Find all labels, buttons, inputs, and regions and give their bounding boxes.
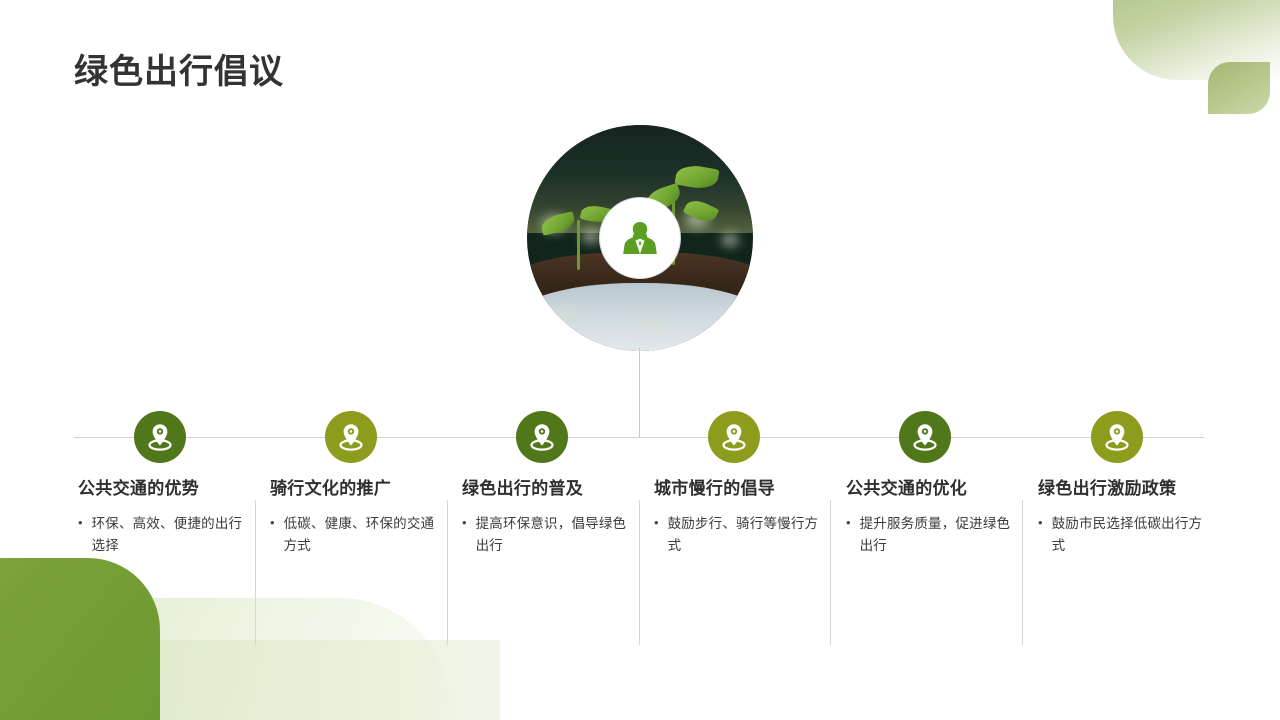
map-pin-icon [525,420,559,454]
timeline-item-3: 绿色出行的普及 • 提高环保意识，倡导绿色出行 [462,478,630,557]
map-pin-icon [1100,420,1134,454]
column-divider-1 [255,500,256,645]
timeline-pin-6[interactable] [1091,411,1143,463]
timeline-item-body: • 环保、高效、便捷的出行选择 [78,513,246,557]
bullet-icon: • [654,513,659,533]
map-pin-icon [908,420,942,454]
hero-connector-line [639,348,640,437]
timeline-item-text: 鼓励步行、骑行等慢行方式 [668,513,822,557]
timeline-item-body: • 低碳、健康、环保的交通方式 [270,513,438,557]
timeline-item-heading: 绿色出行激励政策 [1038,478,1206,500]
map-pin-icon [717,420,751,454]
bullet-icon: • [1038,513,1043,533]
timeline-item-4: 城市慢行的倡导 • 鼓励步行、骑行等慢行方式 [654,478,822,557]
timeline-item-heading: 公共交通的优化 [846,478,1014,500]
bullet-icon: • [846,513,851,533]
timeline-item-5: 公共交通的优化 • 提升服务质量，促进绿色出行 [846,478,1014,557]
timeline-pin-3[interactable] [516,411,568,463]
map-pin-icon [143,420,177,454]
timeline-pin-4[interactable] [708,411,760,463]
timeline-item-body: • 鼓励市民选择低碳出行方式 [1038,513,1206,557]
timeline-axis [74,437,1204,438]
decor-bottom-left-green-shape [0,558,160,720]
column-divider-4 [830,500,831,645]
timeline-item-text: 低碳、健康、环保的交通方式 [284,513,438,557]
timeline-item-body: • 提升服务质量，促进绿色出行 [846,513,1014,557]
bullet-icon: • [270,513,275,533]
slide-canvas: 绿色出行倡议 [0,0,1280,720]
column-divider-5 [1022,500,1023,645]
map-pin-icon [334,420,368,454]
timeline-item-heading: 绿色出行的普及 [462,478,630,500]
timeline-item-heading: 公共交通的优势 [78,478,246,500]
timeline-item-2: 骑行文化的推广 • 低碳、健康、环保的交通方式 [270,478,438,557]
bullet-icon: • [78,513,83,533]
timeline-item-body: • 鼓励步行、骑行等慢行方式 [654,513,822,557]
timeline-item-text: 提升服务质量，促进绿色出行 [860,513,1014,557]
timeline-item-heading: 骑行文化的推广 [270,478,438,500]
businessperson-icon [618,216,662,260]
timeline-pin-5[interactable] [899,411,951,463]
decor-top-right-leaf-small [1208,62,1270,114]
timeline-item-body: • 提高环保意识，倡导绿色出行 [462,513,630,557]
timeline-item-text: 提高环保意识，倡导绿色出行 [476,513,630,557]
timeline-pin-2[interactable] [325,411,377,463]
hero-image-group [527,125,753,351]
column-divider-2 [447,500,448,645]
timeline-item-text: 环保、高效、便捷的出行选择 [92,513,246,557]
timeline-item-heading: 城市慢行的倡导 [654,478,822,500]
page-title: 绿色出行倡议 [74,52,284,93]
column-divider-3 [639,500,640,645]
bullet-icon: • [462,513,467,533]
hero-badge [600,198,680,278]
timeline-item-text: 鼓励市民选择低碳出行方式 [1052,513,1206,557]
timeline-pin-1[interactable] [134,411,186,463]
timeline-item-1: 公共交通的优势 • 环保、高效、便捷的出行选择 [78,478,246,557]
timeline-item-6: 绿色出行激励政策 • 鼓励市民选择低碳出行方式 [1038,478,1206,557]
